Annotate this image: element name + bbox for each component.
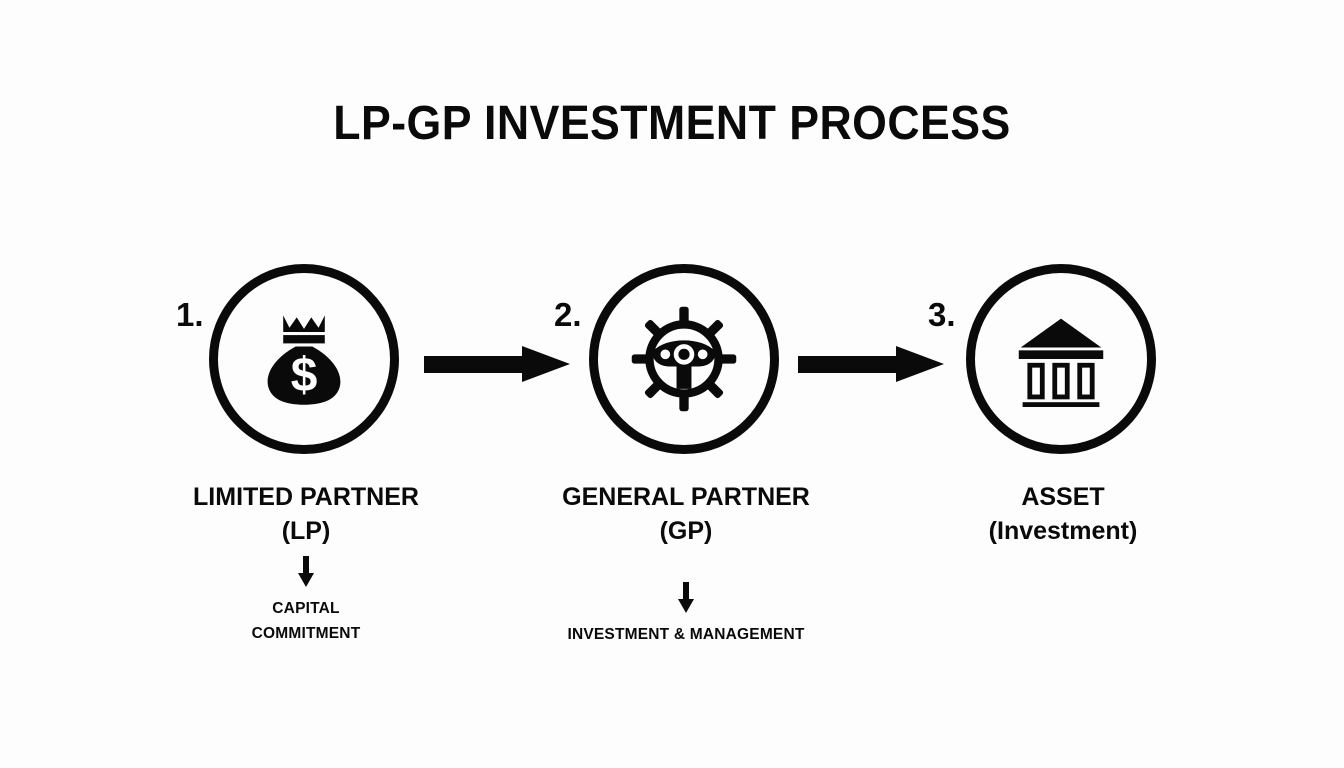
- subflow-2-caption-line1: INVESTMENT & MANAGEMENT: [516, 622, 856, 647]
- subflow-capital-commitment: CAPITAL COMMITMENT: [136, 556, 476, 646]
- step-1-label-line2: (LP): [136, 514, 476, 548]
- step-2-label: GENERAL PARTNER (GP): [516, 480, 856, 548]
- subflow-1-caption: CAPITAL COMMITMENT: [136, 596, 476, 646]
- down-arrow-icon: [297, 556, 315, 588]
- step-1-label: LIMITED PARTNER (LP): [136, 480, 476, 548]
- ships-helm-icon: [589, 264, 779, 454]
- step-1-number: 1.: [176, 298, 204, 331]
- subflow-1-caption-line1: CAPITAL: [136, 596, 476, 621]
- step-2-label-line1: GENERAL PARTNER: [516, 480, 856, 514]
- step-2-label-line2: (GP): [516, 514, 856, 548]
- subflow-1-caption-line2: COMMITMENT: [136, 621, 476, 646]
- step-1-label-line1: LIMITED PARTNER: [136, 480, 476, 514]
- svg-text:$: $: [291, 349, 318, 402]
- arrow-gp-to-asset-icon: [798, 344, 946, 384]
- subflow-2-caption: INVESTMENT & MANAGEMENT: [516, 622, 856, 647]
- step-3-number: 3.: [928, 298, 956, 331]
- down-arrow-icon: [677, 582, 695, 614]
- step-3-label-line2: (Investment): [893, 514, 1233, 548]
- page-title: LP-GP INVESTMENT PROCESS: [47, 96, 1297, 151]
- step-2-number: 2.: [554, 298, 582, 331]
- step-3-label: ASSET (Investment): [893, 480, 1233, 548]
- step-3-label-line1: ASSET: [893, 480, 1233, 514]
- money-bag-icon: $: [209, 264, 399, 454]
- arrow-lp-to-gp-icon: [424, 344, 572, 384]
- diagram-canvas: LP-GP INVESTMENT PROCESS 1. $ LIMITED PA: [0, 0, 1344, 768]
- subflow-investment-management: INVESTMENT & MANAGEMENT: [516, 582, 856, 647]
- bank-building-icon: [966, 264, 1156, 454]
